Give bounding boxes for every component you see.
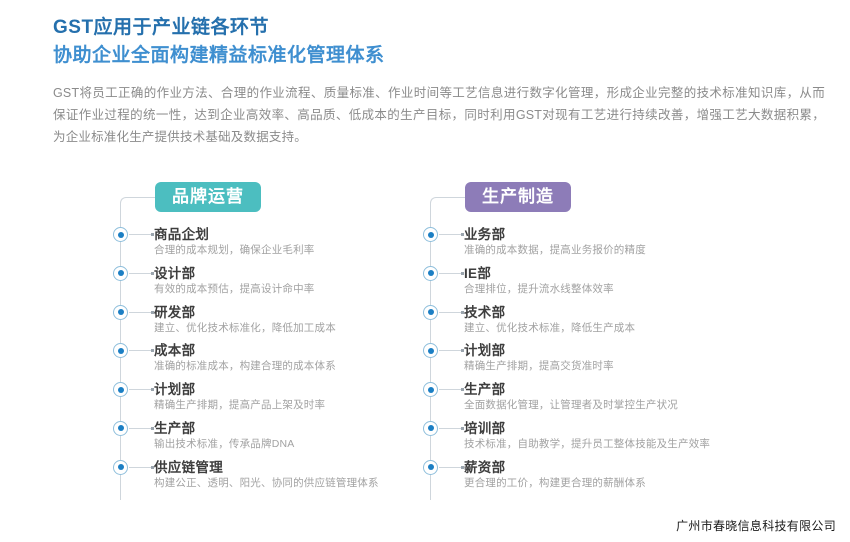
node-dot-icon [113, 421, 128, 436]
connector-tick-icon [439, 467, 461, 468]
page-title-line-2: 协助企业全面构建精益标准化管理体系 [53, 42, 823, 70]
column-badge-production-manufacturing[interactable]: 生产制造 [465, 182, 571, 212]
list-item-description: 准确的成本数据，提高业务报价的精度 [464, 242, 646, 257]
item-list-right: 业务部 准确的成本数据，提高业务报价的精度 IE部 合理排位，提升流水线整体效率… [428, 225, 758, 497]
list-item-title: 业务部 [464, 223, 505, 243]
list-item-description: 精确生产排期，提高产品上架及时率 [154, 397, 325, 412]
node-dot-icon [423, 421, 438, 436]
node-dot-icon [423, 382, 438, 397]
list-item-description: 建立、优化技术标准化，降低加工成本 [154, 320, 336, 335]
connector-tick-icon [439, 389, 461, 390]
list-item-title: 研发部 [154, 301, 195, 321]
connector-tick-icon [129, 428, 151, 429]
list-item-description: 输出技术标准，传承品牌DNA [154, 436, 294, 451]
node-dot-icon [113, 460, 128, 475]
connector-tick-icon [129, 389, 151, 390]
node-dot-icon [423, 305, 438, 320]
process-chain-diagram: 品牌运营 商品企划 合理的成本规划，确保企业毛利率 设计部 有效的成本预估，提高… [0, 176, 850, 516]
node-dot-icon [423, 266, 438, 281]
list-item[interactable]: 成本部 准确的标准成本，构建合理的成本体系 [118, 341, 448, 380]
list-item-description: 全面数据化管理，让管理者及时掌控生产状况 [464, 397, 678, 412]
list-item[interactable]: 计划部 精确生产排期，提高交货准时率 [428, 341, 758, 380]
node-dot-icon [423, 460, 438, 475]
list-item[interactable]: 计划部 精确生产排期，提高产品上架及时率 [118, 380, 448, 419]
list-item-title: 计划部 [154, 378, 195, 398]
list-item-title: IE部 [464, 262, 491, 282]
list-item-title: 商品企划 [154, 223, 209, 243]
footer-company-name: 广州市春晓信息科技有限公司 [676, 517, 836, 534]
list-item-description: 合理的成本规划，确保企业毛利率 [154, 242, 315, 257]
node-dot-icon [423, 227, 438, 242]
connector-tick-icon [129, 350, 151, 351]
connector-tick-icon [439, 234, 461, 235]
list-item-description: 合理排位，提升流水线整体效率 [464, 281, 614, 296]
connector-tick-icon [439, 273, 461, 274]
list-item-title: 技术部 [464, 301, 505, 321]
page-header: GST应用于产业链各环节 协助企业全面构建精益标准化管理体系 GST将员工正确的… [53, 14, 823, 148]
list-item[interactable]: 薪资部 更合理的工价，构建更合理的薪酬体系 [428, 458, 758, 497]
list-item-description: 准确的标准成本，构建合理的成本体系 [154, 358, 336, 373]
list-item-description: 技术标准，自助教学，提升员工整体技能及生产效率 [464, 436, 710, 451]
list-item[interactable]: 生产部 输出技术标准，传承品牌DNA [118, 419, 448, 458]
list-item[interactable]: 供应链管理 构建公正、透明、阳光、协同的供应链管理体系 [118, 458, 448, 497]
list-item-title: 生产部 [154, 417, 195, 437]
list-item[interactable]: 技术部 建立、优化技术标准，降低生产成本 [428, 303, 758, 342]
list-item[interactable]: 培训部 技术标准，自助教学，提升员工整体技能及生产效率 [428, 419, 758, 458]
list-item-title: 计划部 [464, 339, 505, 359]
list-item-title: 设计部 [154, 262, 195, 282]
connector-tick-icon [129, 234, 151, 235]
list-item[interactable]: 研发部 建立、优化技术标准化，降低加工成本 [118, 303, 448, 342]
connector-tick-icon [129, 312, 151, 313]
page-title-line-1: GST应用于产业链各环节 [53, 14, 823, 42]
connector-tick-icon [439, 428, 461, 429]
list-item-description: 精确生产排期，提高交货准时率 [464, 358, 614, 373]
connector-tick-icon [129, 467, 151, 468]
list-item[interactable]: 生产部 全面数据化管理，让管理者及时掌控生产状况 [428, 380, 758, 419]
intro-paragraph: GST将员工正确的作业方法、合理的作业流程、质量标准、作业时间等工艺信息进行数字… [53, 82, 825, 148]
list-item-title: 薪资部 [464, 456, 505, 476]
list-item-description: 构建公正、透明、阳光、协同的供应链管理体系 [154, 475, 379, 490]
list-item-description: 建立、优化技术标准，降低生产成本 [464, 320, 635, 335]
node-dot-icon [423, 343, 438, 358]
item-list-left: 商品企划 合理的成本规划，确保企业毛利率 设计部 有效的成本预估，提高设计命中率… [118, 225, 448, 497]
node-dot-icon [113, 227, 128, 242]
list-item-description: 有效的成本预估，提高设计命中率 [154, 281, 315, 296]
list-item-description: 更合理的工价，构建更合理的薪酬体系 [464, 475, 646, 490]
list-item[interactable]: 业务部 准确的成本数据，提高业务报价的精度 [428, 225, 758, 264]
list-item-title: 培训部 [464, 417, 505, 437]
list-item[interactable]: 商品企划 合理的成本规划，确保企业毛利率 [118, 225, 448, 264]
list-item[interactable]: 设计部 有效的成本预估，提高设计命中率 [118, 264, 448, 303]
connector-tick-icon [129, 273, 151, 274]
list-item-title: 供应链管理 [154, 456, 223, 476]
node-dot-icon [113, 382, 128, 397]
node-dot-icon [113, 266, 128, 281]
list-item[interactable]: IE部 合理排位，提升流水线整体效率 [428, 264, 758, 303]
list-item-title: 生产部 [464, 378, 505, 398]
connector-tick-icon [439, 350, 461, 351]
connector-tick-icon [439, 312, 461, 313]
list-item-title: 成本部 [154, 339, 195, 359]
column-badge-brand-operation[interactable]: 品牌运营 [155, 182, 261, 212]
node-dot-icon [113, 343, 128, 358]
node-dot-icon [113, 305, 128, 320]
